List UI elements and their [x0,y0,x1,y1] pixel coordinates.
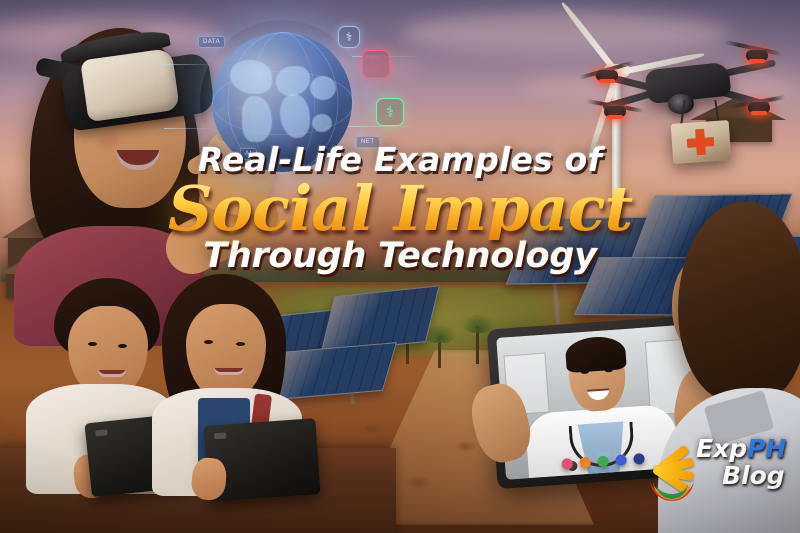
boy-eye [118,344,127,348]
hud-connector [164,128,214,129]
tablet-camera [95,429,108,436]
vr-woman-cheek [98,134,120,148]
drone-motor [748,102,770,113]
call-dot-5[interactable] [633,453,645,465]
medical-icon: ⚕ [338,26,360,48]
girl-eye [236,342,245,346]
boy-eye [88,342,97,346]
patient-hair [678,202,800,402]
drone-motor [746,50,768,61]
call-dot-3[interactable] [597,455,609,467]
logo-exp-text: Exp [696,434,747,463]
drone-motor [604,106,626,117]
logo-wordmark: ExpPH Blog [696,436,796,488]
hud-connector [348,126,422,127]
drone-motor [596,70,618,81]
call-dot-1[interactable] [561,458,573,470]
vr-headset-faceplate [80,48,180,122]
call-dot-2[interactable] [579,457,591,469]
logo-line-1: ExpPH [696,436,796,461]
boy-smile [98,370,126,377]
girl-eye [204,340,213,344]
call-dot-4[interactable] [615,454,627,466]
logo-blog-text: Blog [722,463,796,488]
tablet-camera [214,432,226,439]
heart-icon: ♡ [362,50,390,78]
logo-ph-text: PH [747,434,786,463]
medical-supply-box [671,120,732,164]
girl-smile [214,368,244,375]
hero-image: ♡ ⚕ ⚕ DATA NET AI [0,0,800,533]
palm-tree [476,326,479,364]
tooth-icon: ⚕ [376,98,404,126]
delivery-drone [588,30,784,162]
brand-logo[interactable]: ExpPH Blog [648,434,794,512]
red-cross-icon [687,137,715,148]
title-backdrop-glow [190,146,620,316]
hud-chip-data: DATA [198,36,225,48]
hud-connector [158,64,214,65]
